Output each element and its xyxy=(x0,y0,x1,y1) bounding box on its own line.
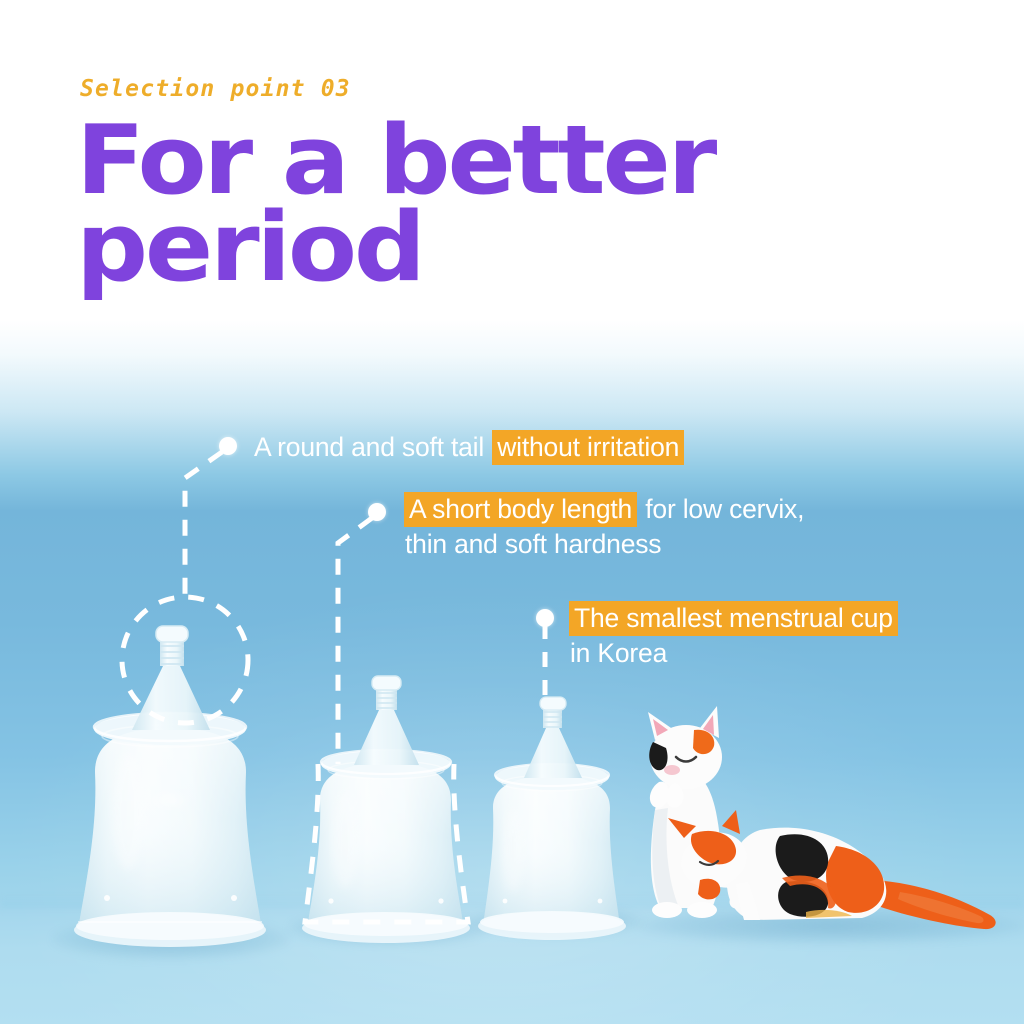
callout-bullet-1 xyxy=(219,437,237,455)
callout-text-2: A short body length for low cervix,thin … xyxy=(404,492,805,562)
eyebrow-label: Selection point 03 xyxy=(80,76,351,102)
callout-text-3: The smallest menstrual cupin Korea xyxy=(569,601,898,671)
callout-highlight-run: The smallest menstrual cup xyxy=(569,601,898,636)
background-gradient-fade xyxy=(0,320,1024,510)
callout-plain-run: for low cervix, xyxy=(637,492,805,527)
page-title: For a better period xyxy=(76,118,818,293)
shadow-medium-cup xyxy=(288,910,492,946)
shadow-large-cup xyxy=(52,918,290,960)
callout-bullet-2 xyxy=(368,503,386,521)
callout-bullet-3 xyxy=(536,609,554,627)
callout-plain-run: A round and soft tail xyxy=(253,430,492,465)
callout-plain-run: in Korea xyxy=(569,636,668,671)
shadow-cats xyxy=(636,908,1024,944)
callout-highlight-run: without irritation xyxy=(492,430,684,465)
callout-line: A round and soft tail without irritation xyxy=(253,430,684,465)
shadow-small-cup xyxy=(470,905,642,937)
callout-line: in Korea xyxy=(569,636,898,671)
callout-line: A short body length for low cervix, xyxy=(404,492,805,527)
callout-text-1: A round and soft tail without irritation xyxy=(253,430,684,465)
promo-image: Selection point 03 For a better period xyxy=(0,0,1024,1024)
callout-line: The smallest menstrual cup xyxy=(569,601,898,636)
callout-line: thin and soft hardness xyxy=(404,527,805,562)
callout-highlight-run: A short body length xyxy=(404,492,637,527)
callout-plain-run: thin and soft hardness xyxy=(404,527,662,562)
